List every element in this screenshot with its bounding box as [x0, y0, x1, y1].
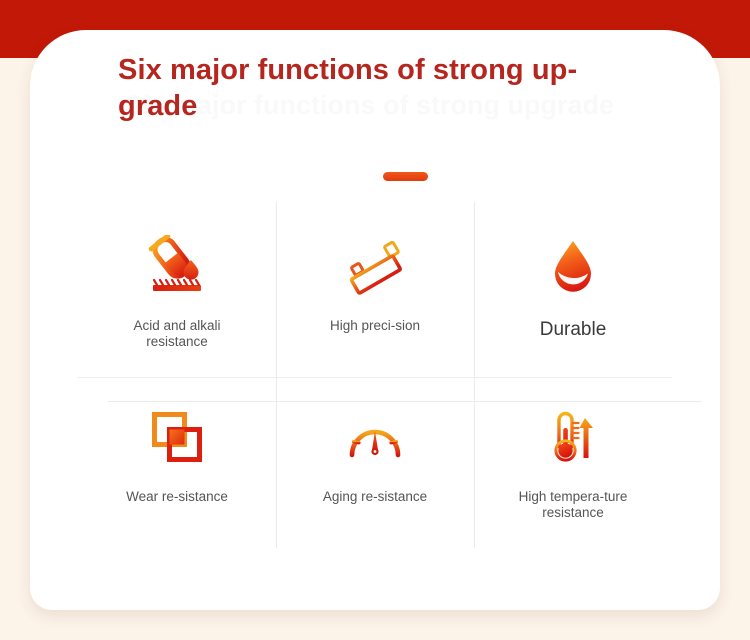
feature-grid: Acid and alkali resistance	[78, 206, 672, 548]
gauge-icon	[339, 403, 411, 473]
feature-label: Wear re-sistance	[112, 489, 242, 505]
thermometer-arrow-icon	[537, 403, 609, 473]
feature-label: High tempera-ture resistance	[508, 489, 638, 521]
page-title: Six major functions of strong up-grade	[118, 52, 638, 124]
feature-label: Acid and alkali resistance	[112, 318, 242, 350]
ruler-caliper-icon	[339, 232, 411, 302]
overlapping-squares-icon	[141, 403, 213, 473]
feature-cell-high-precision[interactable]: High preci-sion	[276, 206, 474, 377]
droplet-icon	[537, 232, 609, 302]
promo-feature-panel: Six major functions of strong up-grade S…	[0, 0, 750, 640]
feature-label: High preci-sion	[310, 318, 440, 334]
test-tube-drop-icon	[141, 232, 213, 302]
feature-cell-wear-resistance[interactable]: Wear re-sistance	[78, 377, 276, 548]
feature-cell-high-temperature-resistance[interactable]: High tempera-ture resistance	[474, 377, 672, 548]
pill-divider-icon	[383, 172, 428, 181]
header-block: Six major functions of strong up-grade	[118, 52, 638, 124]
feature-label: Aging re-sistance	[310, 489, 440, 505]
white-content-card: Six major functions of strong up-grade S…	[30, 30, 720, 610]
feature-cell-acid-alkali-resistance[interactable]: Acid and alkali resistance	[78, 206, 276, 377]
feature-cell-durable[interactable]: Durable	[474, 206, 672, 377]
feature-label: Durable	[493, 318, 653, 341]
feature-cell-aging-resistance[interactable]: Aging re-sistance	[276, 377, 474, 548]
